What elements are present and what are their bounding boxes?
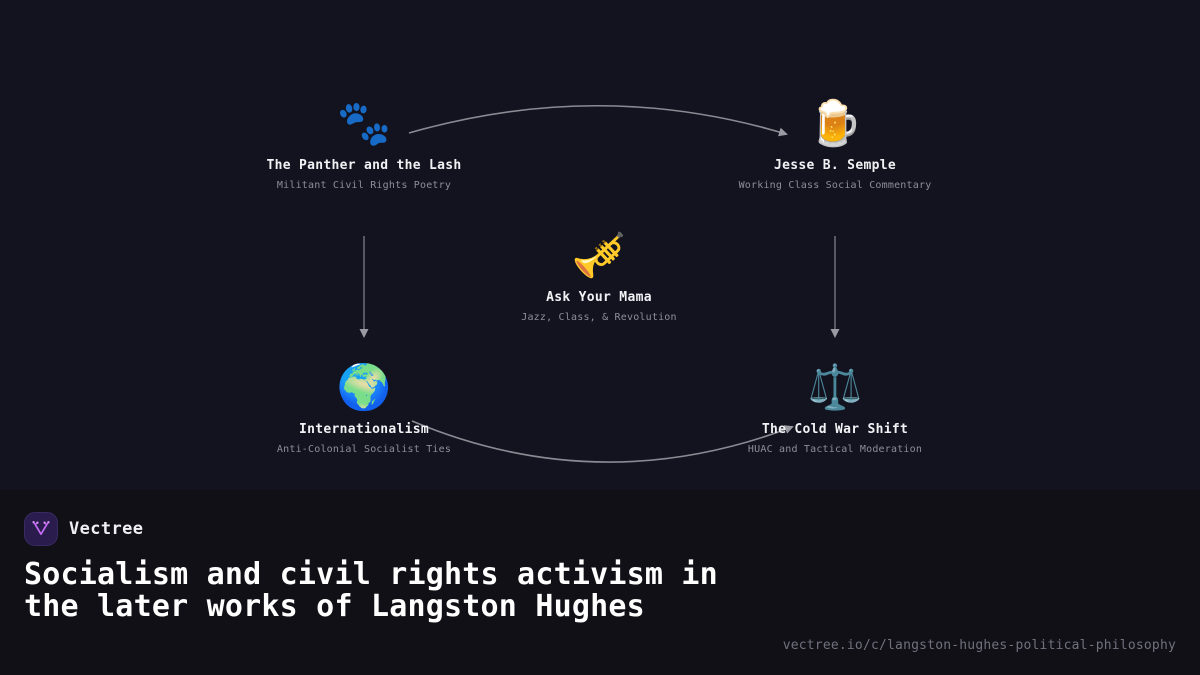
node-subtitle: Working Class Social Commentary xyxy=(705,180,965,191)
concept-graph: 🐾 The Panther and the Lash Militant Civi… xyxy=(0,0,1200,490)
vectree-share-card: 🐾 The Panther and the Lash Militant Civi… xyxy=(0,0,1200,675)
node-subtitle: Militant Civil Rights Poetry xyxy=(234,180,494,191)
page-title: Socialism and civil rights activism in t… xyxy=(24,559,724,623)
node-the-cold-war-shift[interactable]: ⚖️ The Cold War Shift HUAC and Tactical … xyxy=(705,360,965,455)
node-title: The Panther and the Lash xyxy=(234,158,494,173)
node-subtitle: Jazz, Class, & Revolution xyxy=(469,312,729,323)
node-panther-and-the-lash[interactable]: 🐾 The Panther and the Lash Militant Civi… xyxy=(234,96,494,191)
node-subtitle: HUAC and Tactical Moderation xyxy=(705,444,965,455)
globe-europe-africa-icon: 🌍 xyxy=(234,360,494,416)
node-ask-your-mama[interactable]: 🎺 Ask Your Mama Jazz, Class, & Revolutio… xyxy=(469,228,729,323)
node-title: Ask Your Mama xyxy=(469,290,729,305)
node-subtitle: Anti-Colonial Socialist Ties xyxy=(234,444,494,455)
paw-prints-icon: 🐾 xyxy=(234,96,494,152)
beer-mug-icon: 🍺 xyxy=(705,96,965,152)
brand-name: Vectree xyxy=(69,519,143,539)
share-url: vectree.io/c/langston-hughes-political-p… xyxy=(783,638,1176,653)
node-title: Jesse B. Semple xyxy=(705,158,965,173)
balance-scale-icon: ⚖️ xyxy=(705,360,965,416)
brand[interactable]: Vectree xyxy=(24,512,1176,546)
node-jesse-b-semple[interactable]: 🍺 Jesse B. Semple Working Class Social C… xyxy=(705,96,965,191)
footer: Vectree Socialism and civil rights activ… xyxy=(0,490,1200,675)
trumpet-icon: 🎺 xyxy=(469,228,729,284)
node-internationalism[interactable]: 🌍 Internationalism Anti-Colonial Sociali… xyxy=(234,360,494,455)
node-title: Internationalism xyxy=(234,422,494,437)
node-title: The Cold War Shift xyxy=(705,422,965,437)
vectree-logo-icon xyxy=(24,512,58,546)
